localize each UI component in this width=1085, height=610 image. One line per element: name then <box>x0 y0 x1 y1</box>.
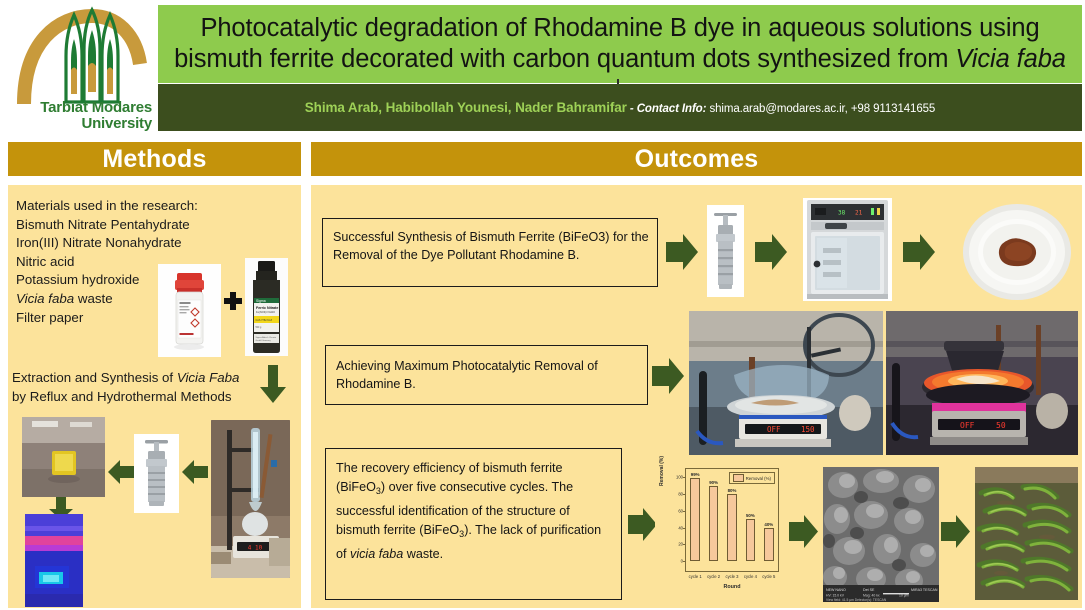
chart-x-category-4: cycle 4 <box>741 574 759 579</box>
reflux-apparatus-photo: 4 10 <box>211 420 290 578</box>
brown-powder-dish-photo <box>955 196 1079 304</box>
svg-text:CAS 7782-61-8: CAS 7782-61-8 <box>256 319 273 322</box>
svg-text:OFF: OFF <box>767 425 781 434</box>
outcome-arrow-2 <box>755 234 788 275</box>
extraction-prefix: Extraction and Synthesis of <box>12 370 177 385</box>
svg-text:View field: 41.5 µm Detector: View field: 41.5 µm Detector(s): TESCAN <box>826 598 887 602</box>
svg-text:50: 50 <box>996 421 1006 430</box>
chart-legend: Removal (%) <box>729 472 775 484</box>
extraction-suffix: by Reflux and Hydrothermal Methods <box>12 389 232 404</box>
chart-bar-2 <box>709 486 719 561</box>
outcome-arrow-3 <box>903 234 936 275</box>
vicia-faba-suffix: waste <box>74 291 112 306</box>
plus-sign-icon <box>224 292 242 310</box>
chart-y-tick-mark-20 <box>683 544 686 545</box>
poster-author-band: Shima Arab, Habibollah Younesi, Nader Ba… <box>158 84 1082 131</box>
chart-y-tick-100: 100 <box>676 475 683 480</box>
chart-bar-label-2: 90% <box>705 480 723 485</box>
contact-value: shima.arab@modares.ac.ir, +98 9113141655 <box>706 103 935 115</box>
outcome-3-line-5b: ). <box>464 523 472 537</box>
outcome-3-line-7: waste. <box>407 547 443 561</box>
photocatalysis-setup-pink-light-photo: OFF 50 <box>886 311 1078 455</box>
svg-text:Mag: 40 kx: Mag: 40 kx <box>863 594 880 598</box>
svg-text:OFF: OFF <box>960 421 975 430</box>
svg-text:Ferric Nitrate: Ferric Nitrate <box>256 306 278 310</box>
contact-label: - Contact Info: <box>627 103 707 115</box>
vicia-faba-italic: Vicia faba <box>16 291 74 306</box>
chart-bar-label-4: 50% <box>742 513 760 518</box>
chart-bar-4 <box>746 519 756 561</box>
svg-text:Sigma: Sigma <box>256 299 266 303</box>
outcome-arrow-4 <box>652 358 685 399</box>
recovery-efficiency-bar-chart: Removal (%) Removal (%) 99%90%80%50%40% … <box>655 460 787 605</box>
chart-x-category-5: cycle 5 <box>760 574 778 579</box>
author-line: Shima Arab, Habibollah Younesi, Nader Ba… <box>305 100 935 115</box>
extraction-species: Vicia Faba <box>177 370 240 385</box>
outcome-3-species: vicia faba <box>350 547 403 561</box>
photocatalysis-setup-white-light-photo: OFF 150 <box>689 311 883 455</box>
chart-y-tick-mark-0 <box>683 561 686 562</box>
chart-plot-area: Removal (%) 99%90%80%50%40% 020406080100… <box>685 468 779 572</box>
chart-x-category-1: cycle 1 <box>686 574 704 579</box>
author-names: Shima Arab, Habibollah Younesi, Nader Ba… <box>305 100 627 115</box>
chart-y-tick-mark-60 <box>683 511 686 512</box>
chart-bar-label-5: 40% <box>760 522 778 527</box>
poster-title-main: Photocatalytic degradation of Rhodamine … <box>174 14 1039 73</box>
svg-text:Sigma-Aldrich Chemie: Sigma-Aldrich Chemie <box>256 336 278 339</box>
svg-text:38: 38 <box>838 210 846 217</box>
chart-bar-3 <box>727 494 737 561</box>
outcome-arrow-7 <box>941 515 971 553</box>
material-item-1: Iron(III) Nitrate Nonahydrate <box>16 234 216 253</box>
outcome-1-line-1: Successful Synthesis of Bismuth Ferrite … <box>333 230 609 244</box>
methods-heading-text: Methods <box>102 145 206 174</box>
chart-x-category-3: cycle 3 <box>723 574 741 579</box>
outcome-arrow-5 <box>628 508 658 546</box>
methods-extraction-text: Extraction and Synthesis of Vicia Faba b… <box>12 369 280 406</box>
chart-legend-swatch <box>733 474 744 482</box>
tulip-arch-logo-icon <box>14 6 154 106</box>
poster-root: Tarbiat Modares University Photocatalyti… <box>0 0 1085 610</box>
outcome-3-line-1: The recovery efficiency of bismuth <box>336 461 527 475</box>
uv-fluorescence-photo <box>25 514 83 607</box>
svg-text:Fe(NO3)3 9H2O: Fe(NO3)3 9H2O <box>256 310 275 314</box>
outcome-box-2: Achieving Maximum Photocatalytic Removal… <box>325 345 648 405</box>
outcome-arrow-6 <box>789 515 819 553</box>
chart-y-tick-mark-40 <box>683 528 686 529</box>
chart-y-axis-label: Removal (%) <box>659 456 665 486</box>
chart-x-category-2: cycle 2 <box>704 574 722 579</box>
svg-text:HV: 15.0 kV: HV: 15.0 kV <box>826 594 845 598</box>
chart-y-tick-mark-80 <box>683 494 686 495</box>
chart-bar-5 <box>764 528 774 561</box>
svg-text:150: 150 <box>801 425 815 434</box>
methods-arrow-left-1 <box>182 459 209 490</box>
svg-text:GmbH Germany: GmbH Germany <box>256 339 272 342</box>
outcome-arrow-1 <box>666 234 699 275</box>
outcome-box-3: The recovery efficiency of bismuth ferri… <box>325 448 622 600</box>
svg-text:NEW NANO: NEW NANO <box>826 588 846 592</box>
chart-y-tick-mark-100 <box>683 477 686 478</box>
svg-text:Det SE: Det SE <box>863 588 875 592</box>
logo-line-1: Tarbiat Modares <box>8 100 152 116</box>
autoclave-vessel-photo <box>707 205 744 297</box>
chart-bar-1 <box>690 478 700 561</box>
university-logo: Tarbiat Modares University <box>8 6 156 138</box>
vicia-faba-pods-photo <box>975 467 1078 600</box>
outcome-3-line-3: cycles. <box>510 480 549 494</box>
yellow-extract-beaker-photo <box>22 417 105 497</box>
bismuth-nitrate-bottle-photo <box>158 264 221 357</box>
methods-section-header: Methods <box>8 142 301 176</box>
poster-header: Tarbiat Modares University Photocatalyti… <box>0 0 1085 140</box>
svg-text:4 10: 4 10 <box>248 545 263 552</box>
methods-arrow-down-1 <box>258 365 288 410</box>
svg-text:MIRA3 TESCAN: MIRA3 TESCAN <box>911 588 938 592</box>
outcome-1-line-3: B. <box>568 248 580 262</box>
materials-intro: Materials used in the research: <box>16 197 216 216</box>
outcome-2-line-2: Rhodamine B. <box>336 377 416 391</box>
outcomes-section-header: Outcomes <box>311 142 1082 176</box>
methods-arrow-left-2 <box>108 459 135 490</box>
chart-x-axis-label: Round <box>685 584 779 590</box>
outcomes-heading-text: Outcomes <box>635 145 759 174</box>
laboratory-oven-photo: 38 21 <box>803 198 892 301</box>
outcome-3-line-2b: ) over five consecutive <box>381 480 506 494</box>
outcome-2-line-1: Achieving Maximum Photocatalytic Removal… <box>336 359 598 373</box>
chart-bar-label-1: 99% <box>686 472 704 477</box>
poster-title: Photocatalytic degradation of Rhodamine … <box>165 13 1075 75</box>
hydrothermal-autoclave-photo <box>134 434 179 513</box>
ferric-nitrate-bottle-photo: Sigma Ferric Nitrate Fe(NO3)3 9H2O CAS 7… <box>245 258 288 356</box>
poster-title-species: Vicia faba <box>955 45 1066 73</box>
poster-title-band: Photocatalytic degradation of Rhodamine … <box>158 5 1082 83</box>
material-item-0: Bismuth Nitrate Pentahydrate <box>16 216 216 235</box>
chart-legend-label: Removal (%) <box>746 476 771 481</box>
sem-micrograph-image: NEW NANO Det SE MIRA3 TESCAN HV: 15.0 kV… <box>823 467 939 602</box>
chart-bar-label-3: 80% <box>723 488 741 493</box>
svg-text:500 g: 500 g <box>256 327 262 329</box>
svg-text:21: 21 <box>855 210 863 217</box>
logo-line-2: University <box>8 116 152 132</box>
university-logo-text: Tarbiat Modares University <box>8 100 156 131</box>
outcome-box-1: Successful Synthesis of Bismuth Ferrite … <box>322 218 658 287</box>
